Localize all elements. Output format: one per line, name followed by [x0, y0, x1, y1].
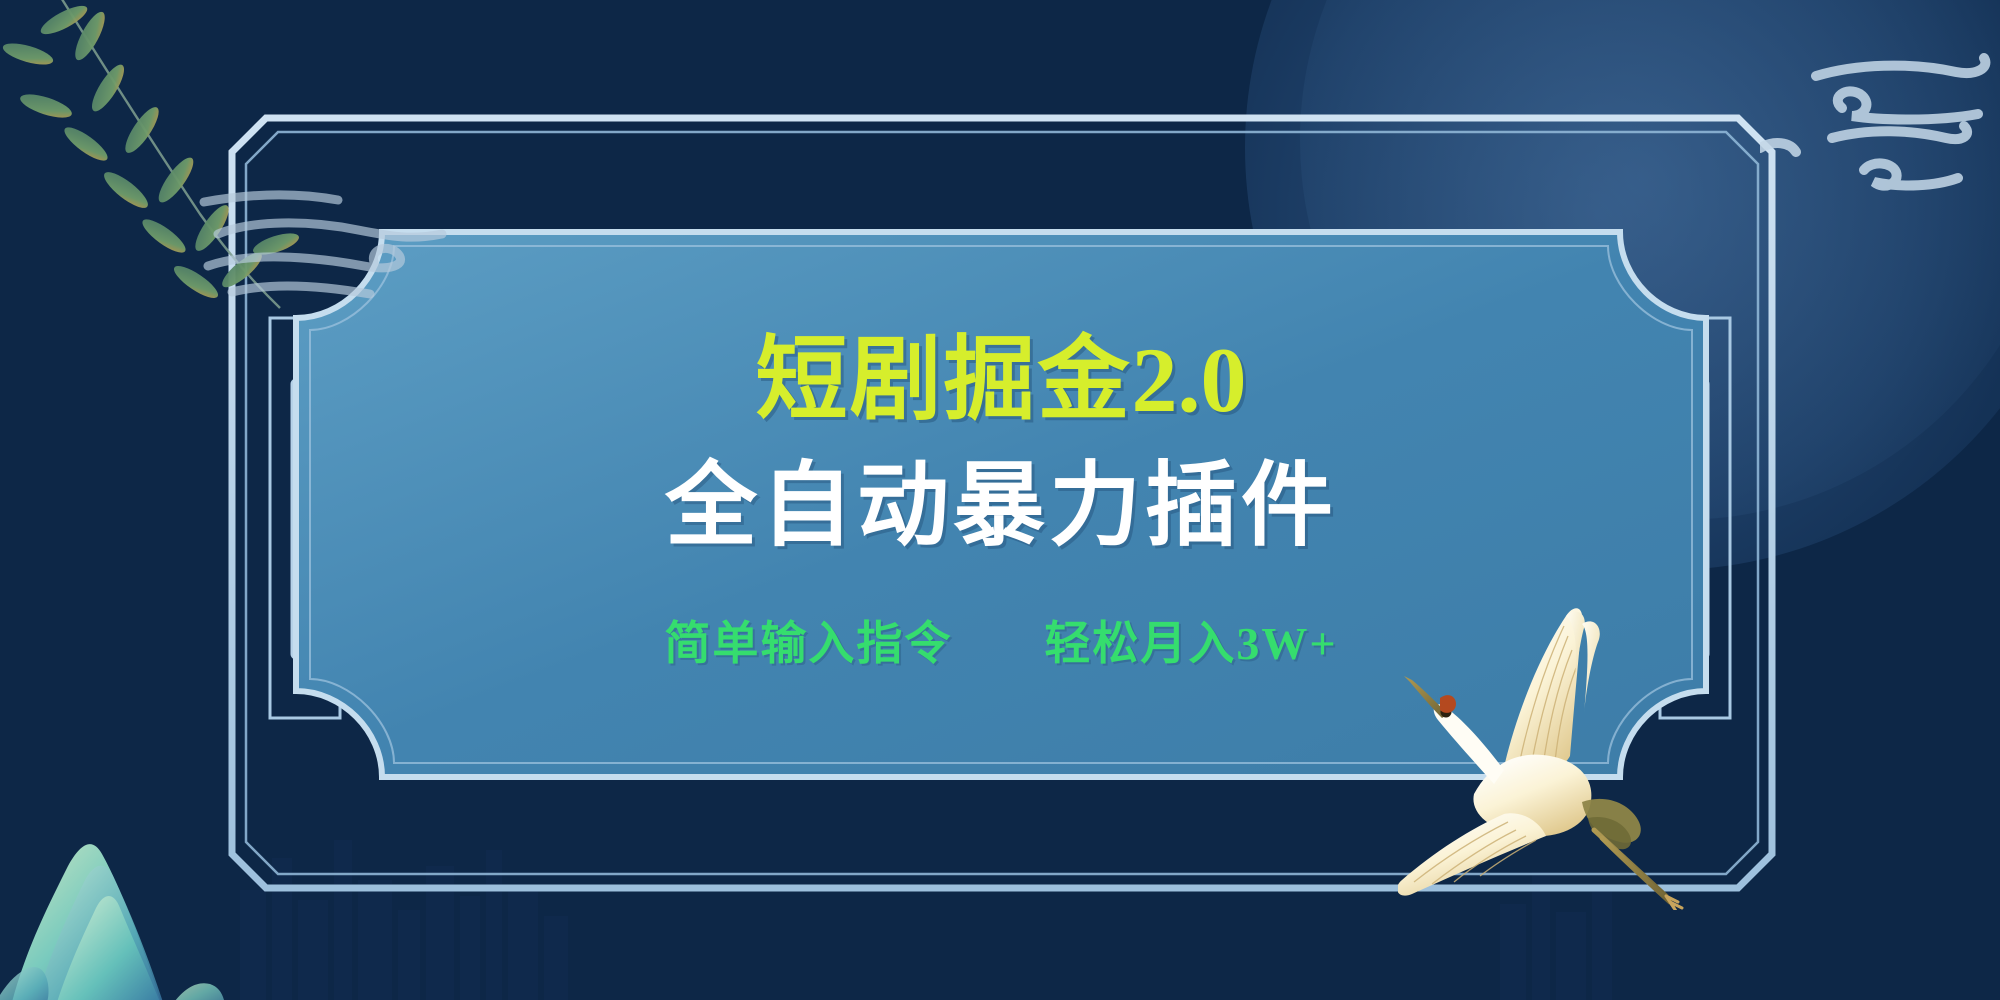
tagline-row: 简单输入指令 轻松月入3W+ [664, 607, 1337, 673]
headline-secondary: 全自动暴力插件 [665, 458, 1337, 556]
auspicious-cloud-icon [1760, 20, 2000, 210]
tagline-left-text: 简单输入指令 [664, 607, 952, 673]
mountain-peak-icon [0, 808, 318, 1000]
willow-branch-icon [0, 0, 320, 314]
headline-version-text: 2.0 [1132, 329, 1247, 431]
headline-primary: 短剧掘金2.0 [755, 332, 1246, 430]
headline-main-text: 短剧掘金 [755, 329, 1131, 431]
poster-text-block: 短剧掘金2.0 全自动暴力插件 简单输入指令 轻松月入3W+ [296, 232, 1706, 777]
poster-canvas: 短剧掘金2.0 全自动暴力插件 简单输入指令 轻松月入3W+ [0, 0, 2000, 1000]
tagline-right-text: 轻松月入3W+ [1044, 607, 1337, 673]
